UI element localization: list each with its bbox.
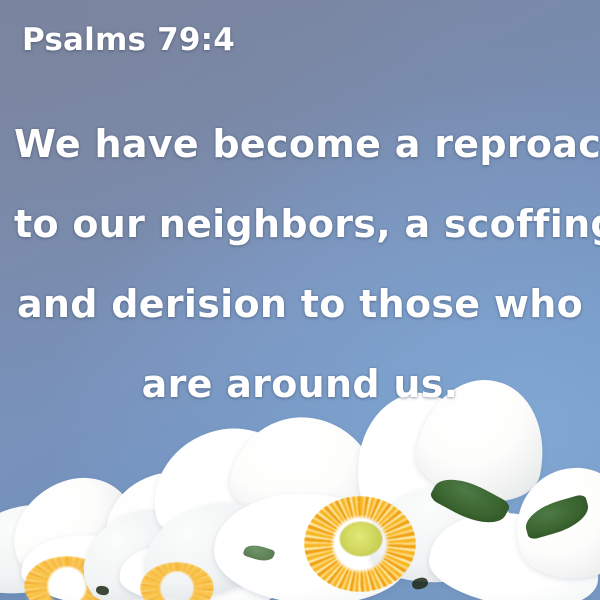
petal-center-left xyxy=(129,485,291,600)
stamen-ring-left xyxy=(24,556,110,600)
verse-line-1: We have become a reproach xyxy=(14,104,586,184)
petal-left-outer xyxy=(0,493,100,600)
flower-cluster-image xyxy=(0,410,600,600)
petal-right-mid xyxy=(363,478,522,589)
verse-line-3: and derision to those who xyxy=(14,264,586,344)
petal-left-upper xyxy=(0,460,144,587)
petal-center-top-left xyxy=(140,413,311,550)
dark-speck-left xyxy=(95,585,109,596)
verse-line-4: are around us. xyxy=(14,344,586,424)
petal-center-body xyxy=(212,491,412,600)
stamen-ring-center xyxy=(304,496,416,592)
verse-line-2: to our neighbors, a scoffing xyxy=(14,184,586,264)
stamen-ring-lower-left xyxy=(140,562,214,600)
petal-left-lower xyxy=(19,528,175,600)
flower-center-disc xyxy=(340,522,382,556)
petal-leftcenter-left xyxy=(66,490,208,600)
dark-speck-center xyxy=(411,576,429,591)
petal-far-right xyxy=(507,458,600,587)
verse-reference: Psalms 79:4 xyxy=(22,22,235,58)
leaf-right-upper xyxy=(428,468,511,534)
petal-right-lower xyxy=(424,503,600,600)
petal-leftcenter-bottom xyxy=(118,536,282,600)
scripture-verse-card: Psalms 79:4 We have become a reproach to… xyxy=(0,0,600,600)
leaf-center-small xyxy=(243,542,276,565)
petal-center-top-right xyxy=(224,407,390,541)
leaf-right-lower xyxy=(521,493,593,540)
petal-leftcenter-top xyxy=(98,463,247,573)
verse-text-block: We have become a reproach to our neighbo… xyxy=(0,104,600,424)
